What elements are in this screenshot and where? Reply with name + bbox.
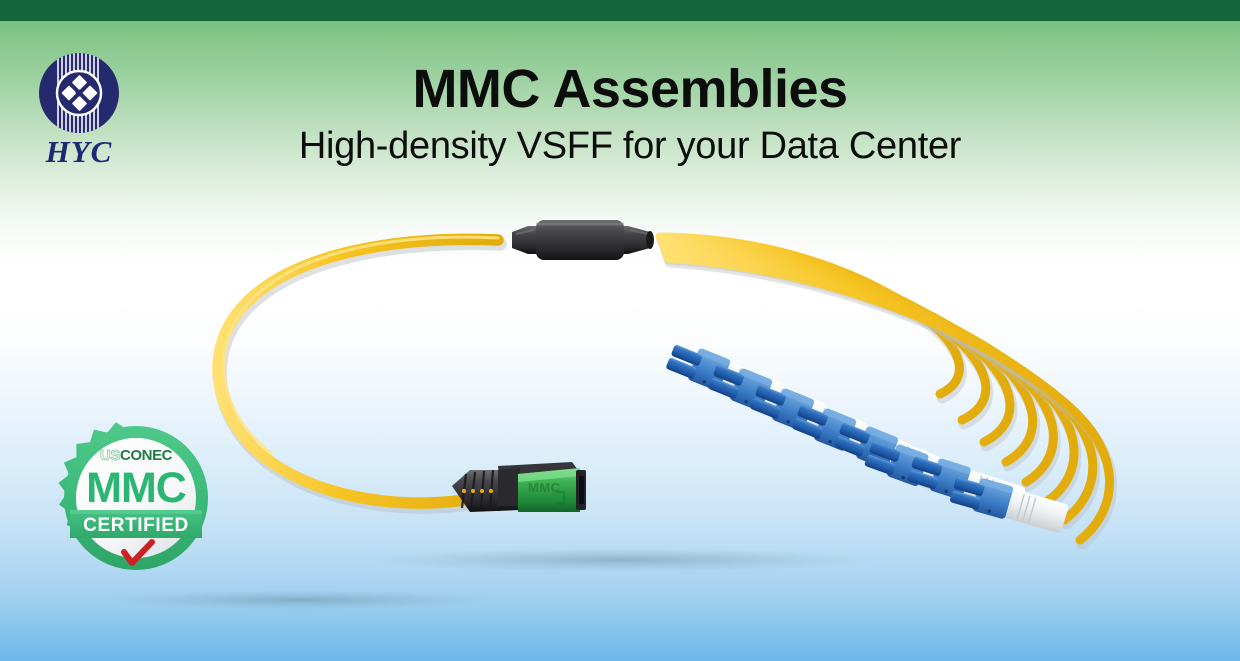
banner-headline-block: MMC Assemblies High-density VSFF for you…	[180, 60, 1080, 169]
badge-vendor-label: USCONEC	[52, 448, 220, 463]
page-title: MMC Assemblies	[180, 60, 1080, 119]
mmc-certified-badge[interactable]: USCONEC MMC CERTIFIED	[52, 414, 220, 582]
badge-vendor-prefix: US	[100, 447, 120, 464]
marketing-banner-canvas: MMC	[0, 0, 1240, 661]
hyc-wordmark: HYC	[38, 136, 120, 167]
badge-standard-label: MMC	[52, 467, 220, 510]
badge-vendor-suffix: CONEC	[120, 447, 172, 464]
page-subtitle: High-density VSFF for your Data Center	[180, 125, 1080, 169]
badge-status-label: CERTIFIED	[52, 516, 220, 535]
hyc-circle-emblem-icon	[38, 52, 120, 134]
top-accent-bar	[0, 0, 1240, 21]
hyc-logo[interactable]: HYC	[38, 52, 124, 170]
